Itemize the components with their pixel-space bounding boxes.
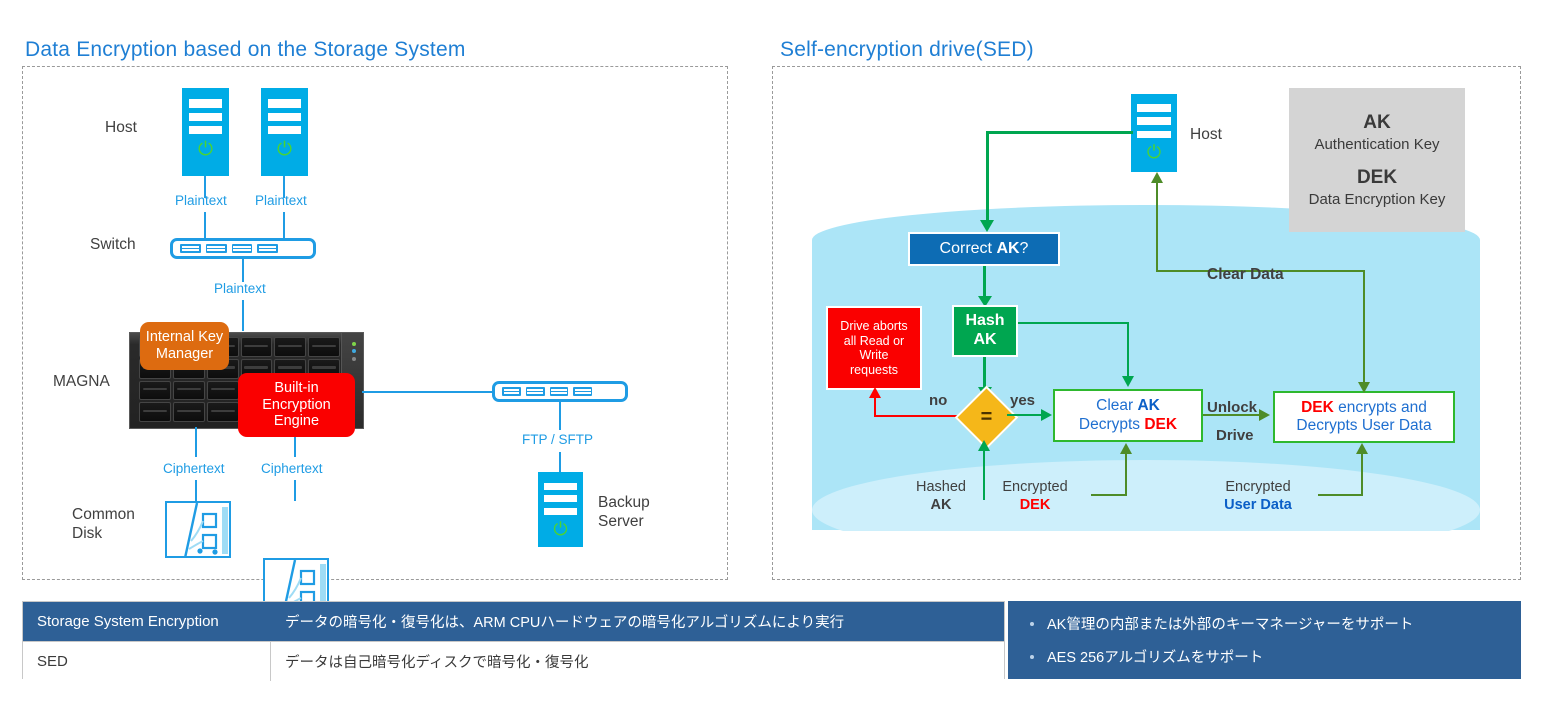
key-legend-box: AK Authentication Key DEK Data Encryptio… xyxy=(1289,88,1465,232)
drive-label: Drive xyxy=(1216,427,1254,446)
switch-port xyxy=(206,244,227,253)
switch-label: Switch xyxy=(90,235,136,254)
legend-dek-abbr: DEK xyxy=(1357,167,1397,189)
dek-enc-l2: Decrypts User Data xyxy=(1296,417,1431,435)
disk-icon-1 xyxy=(165,501,231,558)
common-disk-line2: Disk xyxy=(72,524,135,543)
hash-to-clearak-v xyxy=(1127,322,1129,379)
encrypted-user-arrowhead xyxy=(1356,443,1368,454)
common-disk-label: Common Disk xyxy=(72,505,135,544)
builtin-encryption-engine-callout: Built-in Encryption Engine xyxy=(238,373,355,437)
magna-disk-link-1b xyxy=(195,480,197,501)
power-icon: ⏻ xyxy=(1147,142,1161,163)
clear-data-arrowhead-host xyxy=(1151,172,1163,183)
correct-ak-bold: AK xyxy=(996,240,1019,257)
internal-key-manager-callout: Internal Key Manager xyxy=(140,322,229,370)
host1-link-lower xyxy=(204,212,206,239)
magna-disk-link-1 xyxy=(195,427,197,457)
hashed-ak-line xyxy=(983,448,985,500)
encrypted-dek-label: Encrypted DEK xyxy=(995,478,1075,514)
cylinder-mask xyxy=(773,531,1520,579)
dek-encrypts-node: DEK encrypts and Decrypts User Data xyxy=(1273,391,1455,443)
no-label: no xyxy=(929,392,947,411)
switch-port xyxy=(573,387,592,396)
correctak-to-hash-line xyxy=(983,266,986,299)
bullet-dot-icon xyxy=(1030,622,1034,626)
note-text: AES 256アルゴリズムをサポート xyxy=(1047,646,1263,667)
summary-table: Storage System Encryption データの暗号化・復号化は、A… xyxy=(22,601,1005,679)
engine-line1: Built-in xyxy=(262,380,331,397)
hashed-ak-bold: AK xyxy=(911,496,971,514)
diamond-symbol: = xyxy=(966,397,1007,438)
encrypted-user-bold: User Data xyxy=(1212,496,1304,514)
hash-to-clearak-h xyxy=(1018,322,1129,324)
dek-enc-l1-post: encrypts and xyxy=(1334,399,1427,416)
plaintext-label-3: Plaintext xyxy=(214,281,266,297)
host-to-correctak-h xyxy=(986,131,1133,134)
clear-ak-l1-pre: Clear xyxy=(1096,397,1137,414)
backup-line2: Server xyxy=(598,512,650,531)
clear-data-arrowhead-dek xyxy=(1358,382,1370,393)
engine-line2: Encryption xyxy=(262,397,331,414)
row-label-cell: Storage System Encryption xyxy=(23,602,271,641)
switch-port xyxy=(232,244,253,253)
row-label-cell: SED xyxy=(23,642,271,681)
note-item: AK管理の内部または外部のキーマネージャーをサポート xyxy=(1030,613,1521,634)
abort-line3: Write xyxy=(860,348,889,363)
ciphertext-label-2: Ciphertext xyxy=(261,461,323,477)
host-to-correctak-arrowhead xyxy=(980,220,994,232)
drive-aborts-node: Drive aborts all Read or Write requests xyxy=(826,306,922,390)
encrypted-dek-bold: DEK xyxy=(995,496,1075,514)
notes-panel: AK管理の内部または外部のキーマネージャーをサポート AES 256アルゴリズム… xyxy=(1008,601,1521,679)
no-path-vertical xyxy=(874,396,876,417)
host-tower-icon-1: ⏻ xyxy=(182,88,229,176)
backup-switch-icon xyxy=(492,381,628,402)
legend-ak-abbr: AK xyxy=(1363,112,1390,134)
legend-dek-full: Data Encryption Key xyxy=(1309,191,1446,208)
clear-ak-l2-bold: DEK xyxy=(1144,416,1177,433)
clear-data-v-right xyxy=(1363,270,1365,391)
row-desc-cell: データの暗号化・復号化は、ARM CPUハードウェアの暗号化アルゴリズムにより実… xyxy=(271,602,1004,641)
ftp-label: FTP / SFTP xyxy=(522,432,593,448)
switch-icon xyxy=(170,238,316,259)
power-icon: ⏻ xyxy=(277,139,292,161)
switch-backup-link xyxy=(559,402,561,430)
switch-port xyxy=(180,244,201,253)
row-desc-cell: データは自己暗号化ディスクで暗号化・復号化 xyxy=(271,642,1004,681)
bullet-dot-icon xyxy=(1030,655,1034,659)
magna-to-switch-link xyxy=(362,391,494,393)
no-path-arrowhead xyxy=(869,387,881,398)
encrypted-dek-arrowhead xyxy=(1120,443,1132,454)
abort-line4: requests xyxy=(850,363,898,378)
ciphertext-label-1: Ciphertext xyxy=(163,461,225,477)
power-icon: ⏻ xyxy=(553,519,567,540)
encrypted-dek-v xyxy=(1125,452,1127,496)
clear-data-v-left xyxy=(1156,182,1158,272)
switch-backup-link-lower xyxy=(559,452,561,472)
switch-port xyxy=(502,387,521,396)
clear-ak-l2-pre: Decrypts xyxy=(1079,416,1144,433)
clear-data-label: Clear Data xyxy=(1207,265,1284,284)
yes-path-line xyxy=(1007,414,1043,416)
unlock-drive-arrowhead xyxy=(1259,409,1270,421)
encrypted-user-v xyxy=(1361,452,1363,496)
engine-line3: Engine xyxy=(262,413,331,430)
note-text: AK管理の内部または外部のキーマネージャーをサポート xyxy=(1047,613,1413,634)
encrypted-user-label: Encrypted User Data xyxy=(1212,478,1304,514)
correct-ak-pre: Correct xyxy=(940,240,997,257)
host-tower-icon-2: ⏻ xyxy=(261,88,308,176)
host2-link-lower xyxy=(283,212,285,239)
hashed-ak-arrowhead xyxy=(978,440,990,451)
backup-server-label: Backup Server xyxy=(598,493,650,532)
switch-port xyxy=(550,387,569,396)
table-row: Storage System Encryption データの暗号化・復号化は、A… xyxy=(23,602,1004,641)
encrypted-dek-text: Encrypted xyxy=(995,478,1075,496)
hash-to-clearak-arrowhead xyxy=(1122,376,1134,387)
plaintext-label-2: Plaintext xyxy=(255,193,307,209)
no-path-horizontal xyxy=(874,415,962,417)
hash-line1: Hash xyxy=(965,312,1004,331)
abort-line1: Drive aborts xyxy=(840,319,907,334)
backup-line1: Backup xyxy=(598,493,650,512)
yes-label: yes xyxy=(1010,392,1035,411)
host-to-correctak-v xyxy=(986,131,989,222)
sed-host-label: Host xyxy=(1190,125,1222,144)
sed-host-tower-icon: ⏻ xyxy=(1131,94,1177,172)
host-label: Host xyxy=(105,118,137,137)
hash-ak-node: Hash AK xyxy=(952,305,1018,357)
hash-line2: AK xyxy=(973,331,996,350)
magna-label: MAGNA xyxy=(53,372,110,391)
key-manager-line1: Internal Key xyxy=(146,329,223,346)
power-icon: ⏻ xyxy=(198,139,213,161)
left-panel-title: Data Encryption based on the Storage Sys… xyxy=(25,38,466,62)
clear-ak-decrypts-dek-node: Clear AK Decrypts DEK xyxy=(1053,389,1203,442)
switch-down-link-lower xyxy=(242,300,244,331)
legend-ak-full: Authentication Key xyxy=(1314,136,1439,153)
table-row: SED データは自己暗号化ディスクで暗号化・復号化 xyxy=(23,641,1004,681)
abort-line2: all Read or xyxy=(844,334,904,349)
clear-ak-l1-bold: AK xyxy=(1137,397,1159,414)
note-item: AES 256アルゴリズムをサポート xyxy=(1030,646,1521,667)
correct-ak-node: Correct AK? xyxy=(908,232,1060,266)
yes-path-arrowhead xyxy=(1041,409,1052,421)
common-disk-line1: Common xyxy=(72,505,135,524)
magna-disk-link-2b xyxy=(294,480,296,501)
switch-down-link xyxy=(242,259,244,282)
dek-enc-l1-bold: DEK xyxy=(1301,399,1334,416)
right-panel-title: Self-encryption drive(SED) xyxy=(780,38,1034,62)
encrypted-user-text: Encrypted xyxy=(1212,478,1304,496)
correct-ak-post: ? xyxy=(1020,240,1029,257)
magna-disk-link-2 xyxy=(294,437,296,457)
hashed-text: Hashed xyxy=(911,478,971,496)
switch-port xyxy=(257,244,278,253)
switch-port xyxy=(526,387,545,396)
hashed-ak-label: Hashed AK xyxy=(911,478,971,514)
unlock-label: Unlock xyxy=(1207,399,1257,418)
backup-server-icon: ⏻ xyxy=(538,472,583,547)
key-manager-line2: Manager xyxy=(146,346,223,363)
plaintext-label-1: Plaintext xyxy=(175,193,227,209)
encrypted-user-h xyxy=(1318,494,1363,496)
encrypted-dek-h xyxy=(1091,494,1127,496)
